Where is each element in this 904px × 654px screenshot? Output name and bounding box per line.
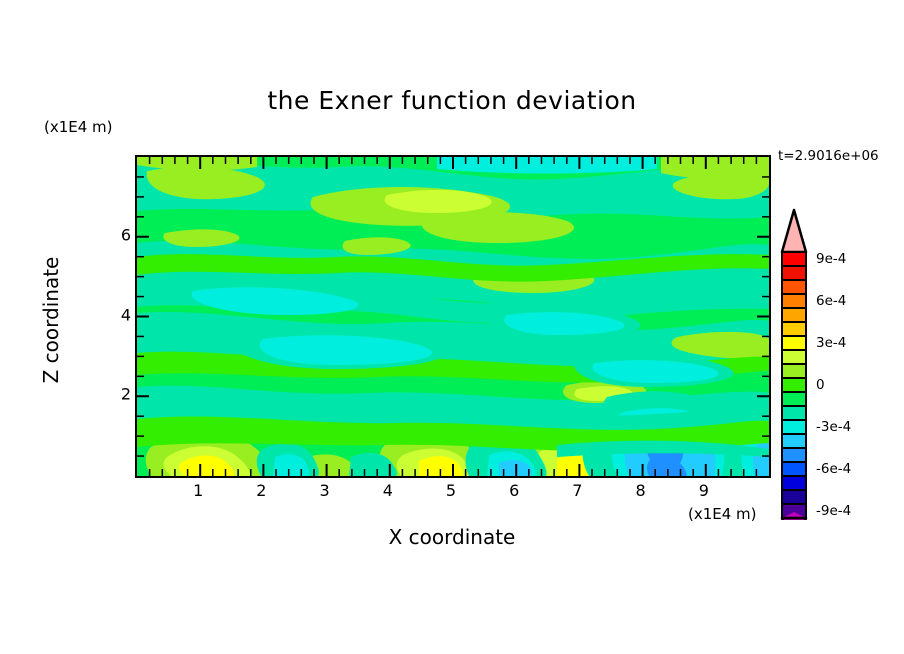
colorbar-tick-label: 6e-4 xyxy=(816,293,846,309)
contour-plot-area xyxy=(135,155,771,478)
colorbar-tick-label: -3e-4 xyxy=(816,419,851,435)
x-tick-label: 6 xyxy=(509,481,519,500)
x-tick-label: 2 xyxy=(256,481,266,500)
colorbar-tick-label: -9e-4 xyxy=(816,503,851,519)
y-axis-tick-labels: 2 4 6 xyxy=(95,155,131,474)
page-title: the Exner function deviation xyxy=(0,86,904,115)
y-tick-label: 2 xyxy=(121,385,131,404)
colorbar-gradient xyxy=(780,200,816,520)
x-axis-tick-labels: 1 2 3 4 5 6 7 8 9 xyxy=(135,481,767,505)
colorbar-tick-label: 0 xyxy=(816,377,825,393)
colorbar-tick-label: -6e-4 xyxy=(816,461,851,477)
y-tick-label: 6 xyxy=(121,225,131,244)
y-tick-label: 4 xyxy=(121,305,131,324)
y-axis-title: Z coordinate xyxy=(39,205,63,435)
colorbar-tick-labels: 9e-4 6e-4 3e-4 0 -3e-4 -6e-4 -9e-4 xyxy=(816,200,900,520)
z-axis-unit-label: (x1E4 m) xyxy=(44,118,113,136)
colorbar-tick-label: 9e-4 xyxy=(816,251,846,267)
contour-field xyxy=(137,157,769,476)
x-tick-label: 5 xyxy=(446,481,456,500)
x-axis-title: X coordinate xyxy=(0,525,904,549)
x-tick-label: 9 xyxy=(699,481,709,500)
colorbar: 9e-4 6e-4 3e-4 0 -3e-4 -6e-4 -9e-4 xyxy=(780,200,900,520)
x-tick-label: 7 xyxy=(572,481,582,500)
x-tick-label: 8 xyxy=(636,481,646,500)
x-tick-label: 3 xyxy=(320,481,330,500)
colorbar-tick-label: 3e-4 xyxy=(816,335,846,351)
time-annotation: t=2.9016e+06 xyxy=(778,148,879,164)
x-tick-label: 4 xyxy=(383,481,393,500)
x-axis-unit-label: (x1E4 m) xyxy=(688,505,757,523)
figure-canvas: the Exner function deviation (x1E4 m) (x… xyxy=(0,0,904,654)
x-tick-label: 1 xyxy=(193,481,203,500)
